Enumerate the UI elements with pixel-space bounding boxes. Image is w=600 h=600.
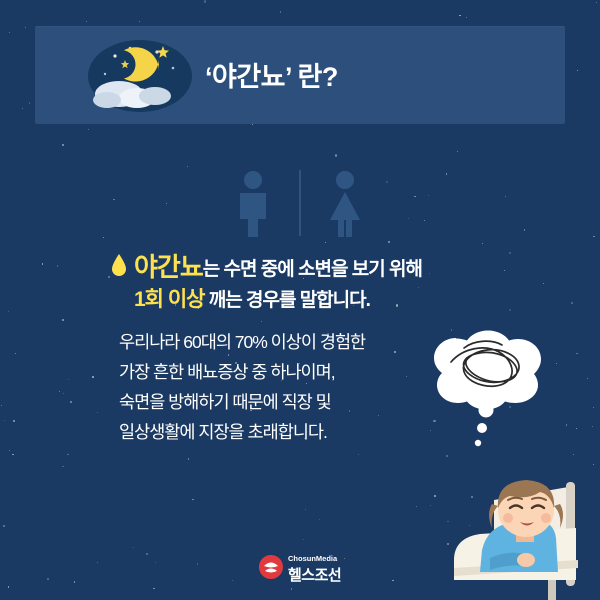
- restroom-pictograms: [0, 168, 600, 238]
- female-restroom-icon: [310, 168, 380, 238]
- lead-row2-rest: 깨는 경우를 말합니다.: [204, 290, 369, 311]
- logo-top-text: ChosunMedia: [288, 554, 337, 563]
- page-title: ‘야간뇨’ 란?: [205, 55, 338, 94]
- moon-clouds-icon: [85, 38, 195, 114]
- woman-awake-in-bed: [398, 408, 600, 600]
- infographic-card: ‘야간뇨’ 란? 야간뇨는 수면 중에 소변을 보기 위해 1회 이상 깨는 경: [0, 0, 600, 600]
- male-restroom-icon: [218, 168, 288, 238]
- lead-frequency: 1회 이상: [134, 288, 204, 311]
- lead-row1-rest: 는 수면 중에 소변을 보기 위해: [203, 259, 422, 280]
- lead-keyword: 야간뇨: [134, 252, 203, 282]
- logo-main-text: 헬스조선: [288, 564, 341, 585]
- urine-drop-icon: [111, 254, 127, 276]
- pictogram-divider: [299, 170, 301, 236]
- brand-logo: ChosunMedia 헬스조선: [258, 552, 348, 586]
- chosun-media-logo-icon: [258, 554, 284, 580]
